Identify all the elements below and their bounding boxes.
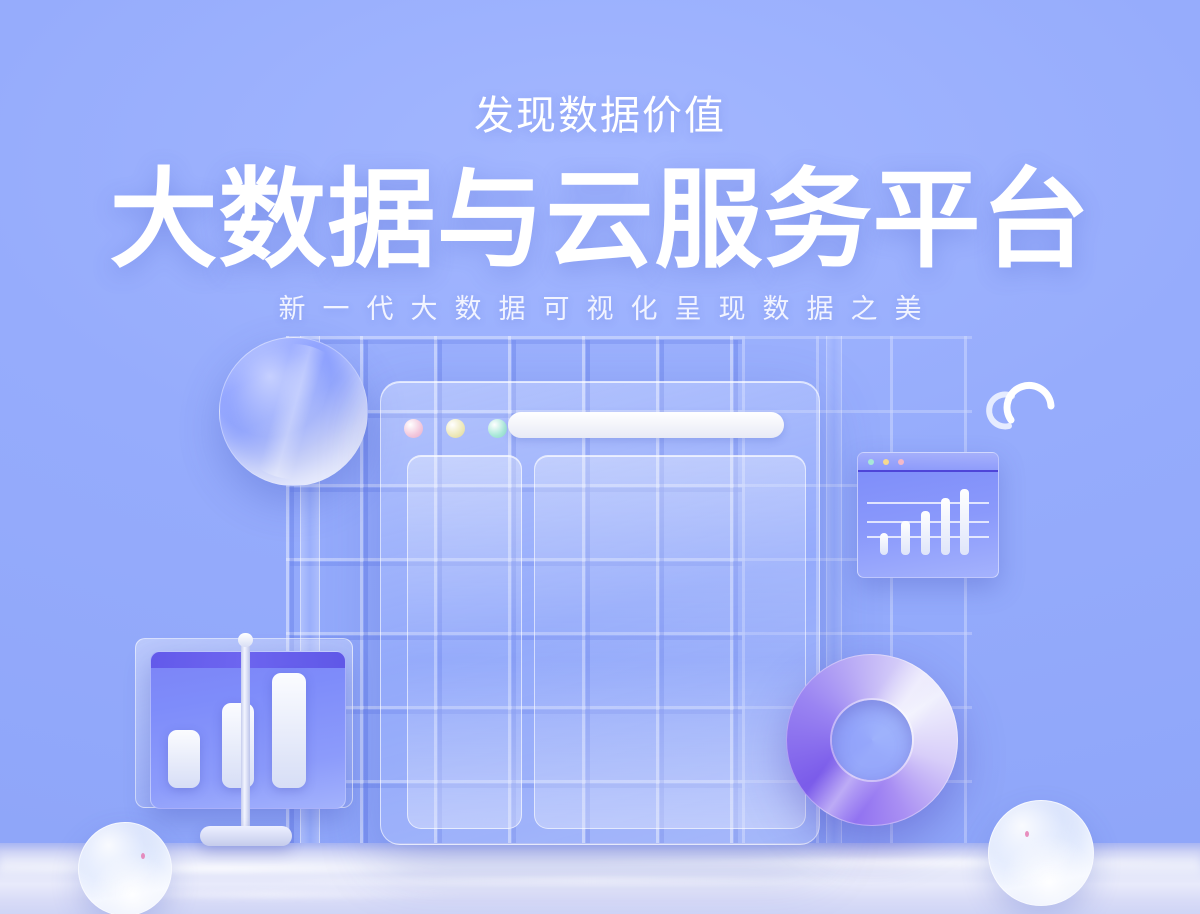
torus-hole xyxy=(832,700,912,780)
glass-disc xyxy=(219,337,368,486)
mini-chart-window xyxy=(857,452,999,578)
hero-banner: 发现数据价值 大数据与云服务平台 新一代大数据可视化呈现数据之美 xyxy=(0,0,1200,914)
mini-dot-yellow-icon[interactable] xyxy=(883,459,889,465)
monitor-stand-pole xyxy=(241,640,250,834)
glass-sphere-left xyxy=(78,822,172,914)
glass-sphere-right xyxy=(988,800,1094,906)
mini-chart-bar-2 xyxy=(901,521,910,555)
traffic-light-close[interactable] xyxy=(404,419,423,438)
mini-chart-bar-1 xyxy=(880,533,888,555)
cloud-icon xyxy=(981,368,1067,430)
sidebar-panel xyxy=(407,455,522,829)
mini-dot-green-icon[interactable] xyxy=(868,459,874,465)
mini-chart-bar-4 xyxy=(941,498,950,555)
mini-window-titlebar xyxy=(858,453,998,472)
traffic-light-maximize[interactable] xyxy=(488,419,507,438)
mini-chart-bar-5 xyxy=(960,489,969,555)
monitor-stand-cap xyxy=(238,633,253,647)
monitor-bar-3 xyxy=(272,673,306,788)
traffic-light-minimize[interactable] xyxy=(446,419,465,438)
mini-chart-bar-3 xyxy=(921,511,930,555)
main-content-panel xyxy=(534,455,806,829)
mini-chart-gridline-top xyxy=(867,502,989,504)
hero-tagline: 发现数据价值 xyxy=(0,96,1200,136)
hero-subline: 新一代大数据可视化呈现数据之美 xyxy=(0,296,1200,323)
monitor-bar-1 xyxy=(168,730,200,788)
donut-chart-torus xyxy=(786,654,958,826)
monitor-stand-base xyxy=(200,826,292,846)
mini-dot-pink-icon[interactable] xyxy=(898,459,904,465)
page-title: 大数据与云服务平台 xyxy=(0,166,1200,274)
address-bar[interactable] xyxy=(508,412,784,438)
